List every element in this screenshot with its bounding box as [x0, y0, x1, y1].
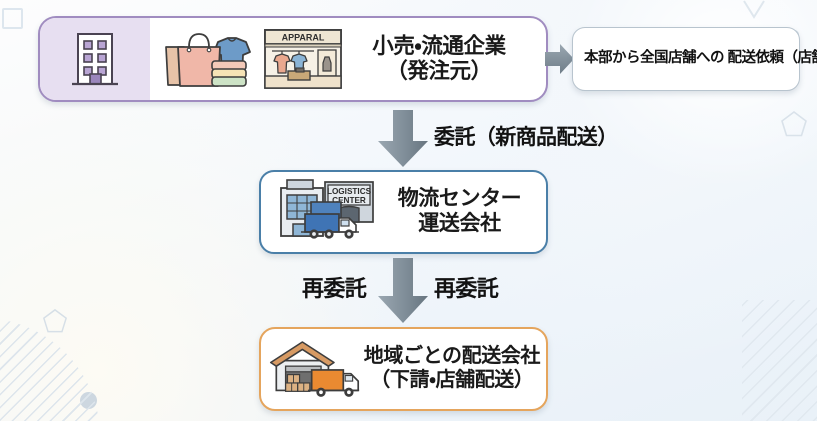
diagram-canvas: APPARAL 小売・流通企業 （発注元） [0, 0, 817, 421]
decor-square-outline [2, 8, 23, 29]
request-label: 本部から全国店舗への 配送依頼（店舗配送） [584, 49, 817, 69]
regional-label-line2: （下請・店舗配送） [364, 369, 540, 393]
decor-chevron-icon [742, 0, 766, 20]
decor-dot-left [80, 392, 97, 409]
apparel-store-icon: APPARAL [262, 25, 344, 93]
retailer-label-line1: 小売・流通企業 [372, 34, 506, 58]
node-logistics-center[interactable]: LOGISTICS CENTER [259, 170, 548, 254]
retailer-tint-panel [40, 18, 150, 100]
arrow-down-gray-icon-2 [375, 258, 431, 324]
warehouse-truck-icon [267, 334, 364, 404]
node-retailer[interactable]: APPARAL 小売・流通企業 （発注元） [38, 16, 548, 102]
decor-stripes-bottom-left [0, 318, 100, 421]
retailer-label-line2: （発注元） [344, 59, 534, 84]
logistics-sign-line1: LOGISTICS [327, 187, 372, 196]
edge-label-saiitaku-left: 再委託 [302, 271, 366, 303]
edge-label-saiitaku-right: 再委託 [434, 271, 498, 303]
decor-pentagon-right-icon [780, 110, 808, 138]
arrow-right-gray-icon [545, 43, 575, 75]
decor-pentagon-left-icon [42, 308, 68, 334]
shopping-bag-clothes-icon [156, 25, 258, 93]
node-delivery-request[interactable]: 本部から全国店舗への 配送依頼（店舗配送） [572, 27, 800, 91]
request-label-line1: 本部から全国店舗への [584, 50, 724, 66]
regional-label-line1: 地域ごとの配送会社 [364, 345, 540, 367]
logistics-label: 物流センター 運送会社 [379, 187, 546, 237]
node-regional-delivery[interactable]: 地域ごとの配送会社 （下請・店舗配送） [259, 327, 548, 411]
office-building-icon [66, 28, 124, 90]
apparel-sign-text: APPARAL [282, 33, 325, 43]
retailer-icons-row: APPARAL [150, 25, 344, 93]
logistics-center-icon: LOGISTICS CENTER [267, 174, 379, 250]
edge-label-itaku: 委託（新商品配送） [434, 121, 618, 151]
regional-label: 地域ごとの配送会社 （下請・店舗配送） [364, 345, 546, 392]
decor-stripes-bottom-right [742, 300, 817, 421]
request-label-line2: 配送依頼（店舗配送） [728, 50, 817, 66]
retailer-label: 小売・流通企業 （発注元） [344, 34, 546, 85]
arrow-down-gray-icon [375, 110, 431, 168]
logistics-label-line1: 物流センター [398, 187, 522, 210]
logistics-label-line2: 運送会社 [379, 212, 540, 237]
